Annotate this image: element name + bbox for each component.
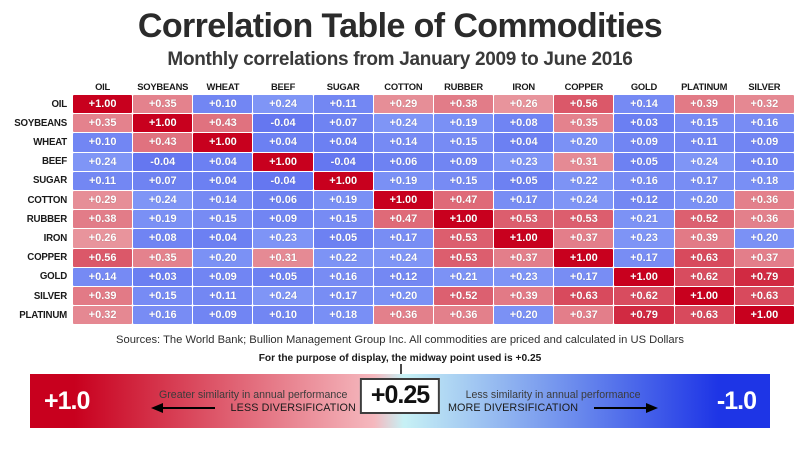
matrix-cell: +0.04 [193,229,252,247]
matrix-cell: +0.18 [735,172,794,190]
legend-right-bottom-label: MORE DIVERSIFICATION [448,402,578,414]
matrix-cell: +0.15 [133,287,192,305]
matrix-cell: +0.24 [133,191,192,209]
matrix-col-header: COPPER [554,81,613,94]
matrix-cell: +0.79 [735,268,794,286]
matrix-cell: +0.17 [614,249,673,267]
matrix-cell: +0.36 [434,306,493,324]
matrix-cell: +0.24 [73,153,132,171]
matrix-cell: +0.24 [554,191,613,209]
matrix-cell: +0.52 [434,287,493,305]
page-title: Correlation Table of Commodities [0,0,800,43]
matrix-cell: +0.62 [675,268,734,286]
matrix-row-header: WHEAT [6,133,72,151]
matrix-cell: +0.04 [253,133,312,151]
matrix-cell: +0.20 [554,133,613,151]
matrix-cell: +0.31 [554,153,613,171]
matrix-cell: +0.43 [193,114,252,132]
matrix-cell: +0.20 [494,306,553,324]
matrix-cell: +1.00 [253,153,312,171]
matrix-cell: +0.14 [73,268,132,286]
matrix-cell: +1.00 [614,268,673,286]
legend-midpoint-box: +0.25 [360,378,440,414]
matrix-row-header: RUBBER [6,210,72,228]
matrix-cell: +0.10 [253,306,312,324]
matrix-cell: +1.00 [675,287,734,305]
matrix-cell: +0.12 [614,191,673,209]
matrix-cell: +0.17 [374,229,433,247]
matrix-cell: +0.39 [675,229,734,247]
matrix-cell: +0.17 [675,172,734,190]
matrix-cell: +1.00 [735,306,794,324]
matrix-cell: -0.04 [253,114,312,132]
matrix-cell: +0.19 [374,172,433,190]
matrix-cell: +0.24 [374,249,433,267]
matrix-row-header: IRON [6,229,72,247]
matrix-cell: +0.23 [253,229,312,247]
matrix-cell: +0.14 [193,191,252,209]
matrix-cell: +0.22 [554,172,613,190]
matrix-cell: +0.35 [133,95,192,113]
matrix-row-header: BEEF [6,153,72,171]
matrix-cell: +0.19 [434,114,493,132]
matrix-cell: +0.11 [675,133,734,151]
matrix-row: IRON+0.26+0.08+0.04+0.23+0.05+0.17+0.53+… [6,229,794,247]
legend: +1.0 Greater similarity in annual perfor… [20,364,780,428]
matrix-header-row: OILSOYBEANSWHEATBEEFSUGARCOTTONRUBBERIRO… [6,81,794,94]
matrix-row-header: OIL [6,95,72,113]
matrix-cell: +0.29 [73,191,132,209]
matrix-col-header: OIL [73,81,132,94]
matrix-cell: +0.19 [314,191,373,209]
matrix-row-header: SUGAR [6,172,72,190]
matrix-cell: +0.20 [735,229,794,247]
matrix-cell: +0.10 [193,95,252,113]
matrix-cell: -0.04 [314,153,373,171]
matrix-cell: +0.17 [494,191,553,209]
legend-right-half: Less similarity in annual performance MO… [403,389,703,414]
matrix-cell: +0.09 [253,210,312,228]
matrix-row: SOYBEANS+0.35+1.00+0.43-0.04+0.07+0.24+0… [6,114,794,132]
matrix-cell: +0.04 [494,133,553,151]
matrix-cell: +0.15 [434,133,493,151]
matrix-cell: +0.05 [494,172,553,190]
matrix-cell: +1.00 [374,191,433,209]
matrix-cell: +0.09 [735,133,794,151]
legend-left-bottom-row: LESS DIVERSIFICATION [151,402,356,414]
matrix-row: RUBBER+0.38+0.19+0.15+0.09+0.15+0.47+1.0… [6,210,794,228]
legend-right-value: -1.0 [703,387,770,416]
matrix-cell: +0.52 [675,210,734,228]
matrix-cell: +0.35 [554,114,613,132]
matrix-cell: +0.09 [434,153,493,171]
matrix-cell: +0.20 [193,249,252,267]
matrix-row-header: COTTON [6,191,72,209]
matrix-cell: +0.12 [374,268,433,286]
matrix-cell: +1.00 [314,172,373,190]
matrix-cell: +1.00 [494,229,553,247]
legend-left-value: +1.0 [30,387,103,416]
sources-note: Sources: The World Bank; Bullion Managem… [0,325,800,346]
matrix-cell: +0.24 [374,114,433,132]
matrix-cell: +0.11 [314,95,373,113]
matrix-cell: +0.08 [494,114,553,132]
matrix-cell: +0.05 [253,268,312,286]
matrix-cell: +0.14 [614,95,673,113]
legend-left-bottom-label: LESS DIVERSIFICATION [231,402,356,414]
matrix-cell: +0.63 [554,287,613,305]
matrix-cell: +0.16 [735,114,794,132]
matrix-cell: +0.38 [73,210,132,228]
matrix-cell: +0.15 [193,210,252,228]
matrix-cell: +0.09 [193,268,252,286]
page-subtitle: Monthly correlations from January 2009 t… [0,43,800,71]
matrix-cell: +0.39 [494,287,553,305]
legend-left-top-label: Greater similarity in annual performance [159,389,347,401]
matrix-cell: +0.36 [374,306,433,324]
matrix-cell: +0.10 [73,133,132,151]
matrix-cell: +0.07 [314,114,373,132]
matrix-cell: +0.38 [434,95,493,113]
matrix-cell: +0.09 [614,133,673,151]
matrix-col-header: COTTON [374,81,433,94]
matrix-row: BEEF+0.24-0.04+0.04+1.00-0.04+0.06+0.09+… [6,153,794,171]
matrix-cell: +0.03 [614,114,673,132]
matrix-cell: +0.63 [675,306,734,324]
matrix-col-header: GOLD [614,81,673,94]
matrix-cell: +0.39 [73,287,132,305]
matrix-cell: +0.16 [133,306,192,324]
matrix-cell: +0.23 [494,268,553,286]
matrix-cell: +0.18 [314,306,373,324]
matrix-cell: +0.37 [554,229,613,247]
matrix-row: GOLD+0.14+0.03+0.09+0.05+0.16+0.12+0.21+… [6,268,794,286]
matrix-row: SILVER+0.39+0.15+0.11+0.24+0.17+0.20+0.5… [6,287,794,305]
matrix-cell: +0.16 [614,172,673,190]
matrix-cell: +0.05 [614,153,673,171]
matrix-cell: +0.53 [434,229,493,247]
correlation-matrix: OILSOYBEANSWHEATBEEFSUGARCOTTONRUBBERIRO… [5,80,795,325]
matrix-row: SUGAR+0.11+0.07+0.04-0.04+1.00+0.19+0.15… [6,172,794,190]
legend-right-bottom-row: MORE DIVERSIFICATION [448,402,658,414]
matrix-cell: +0.37 [554,306,613,324]
matrix-cell: +0.35 [133,249,192,267]
matrix-cell: +0.29 [374,95,433,113]
matrix-cell: +0.36 [735,210,794,228]
matrix-row: PLATINUM+0.32+0.16+0.09+0.10+0.18+0.36+0… [6,306,794,324]
matrix-cell: +1.00 [73,95,132,113]
matrix-cell: +0.11 [193,287,252,305]
matrix-cell: +1.00 [434,210,493,228]
matrix-cell: +0.07 [133,172,192,190]
matrix-cell: +0.16 [314,268,373,286]
matrix-cell: +0.15 [314,210,373,228]
matrix-cell: +1.00 [193,133,252,151]
matrix-cell: +0.56 [554,95,613,113]
matrix-cell: +0.23 [614,229,673,247]
matrix-cell: +0.17 [314,287,373,305]
matrix-cell: +0.53 [554,210,613,228]
matrix-cell: +0.15 [434,172,493,190]
matrix-cell: +0.26 [73,229,132,247]
matrix-cell: +1.00 [554,249,613,267]
matrix-row-header: SOYBEANS [6,114,72,132]
matrix-cell: +0.79 [614,306,673,324]
matrix-cell: +0.17 [554,268,613,286]
matrix-cell: +0.53 [434,249,493,267]
matrix-cell: +0.04 [193,172,252,190]
matrix-cell: +0.06 [253,191,312,209]
matrix-col-header: PLATINUM [675,81,734,94]
matrix-row-header: GOLD [6,268,72,286]
matrix-cell: -0.04 [253,172,312,190]
matrix-col-header: SILVER [735,81,794,94]
matrix-cell: +0.20 [675,191,734,209]
matrix-cell: +0.63 [735,287,794,305]
matrix-cell: -0.04 [133,153,192,171]
matrix-cell: +0.10 [735,153,794,171]
matrix-cell: +0.20 [374,287,433,305]
matrix-col-header: BEEF [253,81,312,94]
matrix-cell: +0.24 [253,95,312,113]
midway-note: For the purpose of display, the midway p… [0,346,800,364]
matrix-cell: +0.32 [735,95,794,113]
matrix-cell: +0.32 [73,306,132,324]
matrix-cell: +0.04 [193,153,252,171]
matrix-cell: +0.11 [73,172,132,190]
matrix-cell: +0.04 [314,133,373,151]
correlation-table-page: Correlation Table of Commodities Monthly… [0,0,800,462]
matrix-cell: +0.21 [614,210,673,228]
matrix-row-header: COPPER [6,249,72,267]
matrix-cell: +0.14 [374,133,433,151]
matrix-cell: +0.31 [253,249,312,267]
matrix-cell: +0.21 [434,268,493,286]
matrix-cell: +0.37 [735,249,794,267]
matrix-cell: +0.56 [73,249,132,267]
matrix-cell: +0.24 [253,287,312,305]
matrix-cell: +0.23 [494,153,553,171]
matrix-cell: +0.08 [133,229,192,247]
matrix-cell: +0.36 [735,191,794,209]
matrix-col-header: IRON [494,81,553,94]
matrix-col-header: WHEAT [193,81,252,94]
matrix-cell: +1.00 [133,114,192,132]
matrix-cell: +0.39 [675,95,734,113]
matrix-cell: +0.53 [494,210,553,228]
matrix-row: OIL+1.00+0.35+0.10+0.24+0.11+0.29+0.38+0… [6,95,794,113]
matrix-body: OIL+1.00+0.35+0.10+0.24+0.11+0.29+0.38+0… [6,95,794,324]
matrix-cell: +0.19 [133,210,192,228]
arrow-left-icon [151,403,225,413]
matrix-col-header: RUBBER [434,81,493,94]
matrix-cell: +0.24 [675,153,734,171]
matrix-col-header: SOYBEANS [133,81,192,94]
matrix-row-header: SILVER [6,287,72,305]
matrix-corner [6,81,72,94]
matrix-row: COTTON+0.29+0.24+0.14+0.06+0.19+1.00+0.4… [6,191,794,209]
matrix-cell: +0.47 [434,191,493,209]
matrix-cell: +0.06 [374,153,433,171]
legend-right-top-label: Less similarity in annual performance [466,389,641,401]
matrix-cell: +0.22 [314,249,373,267]
matrix-cell: +0.05 [314,229,373,247]
matrix-col-header: SUGAR [314,81,373,94]
matrix-cell: +0.15 [675,114,734,132]
matrix-cell: +0.43 [133,133,192,151]
arrow-right-icon [584,403,658,413]
matrix-cell: +0.63 [675,249,734,267]
matrix-cell: +0.35 [73,114,132,132]
matrix-cell: +0.62 [614,287,673,305]
matrix-cell: +0.37 [494,249,553,267]
matrix-cell: +0.09 [193,306,252,324]
matrix-cell: +0.03 [133,268,192,286]
matrix-row: WHEAT+0.10+0.43+1.00+0.04+0.04+0.14+0.15… [6,133,794,151]
matrix-row-header: PLATINUM [6,306,72,324]
matrix-cell: +0.26 [494,95,553,113]
matrix-row: COPPER+0.56+0.35+0.20+0.31+0.22+0.24+0.5… [6,249,794,267]
matrix-cell: +0.47 [374,210,433,228]
legend-left-half: Greater similarity in annual performance… [103,389,403,414]
